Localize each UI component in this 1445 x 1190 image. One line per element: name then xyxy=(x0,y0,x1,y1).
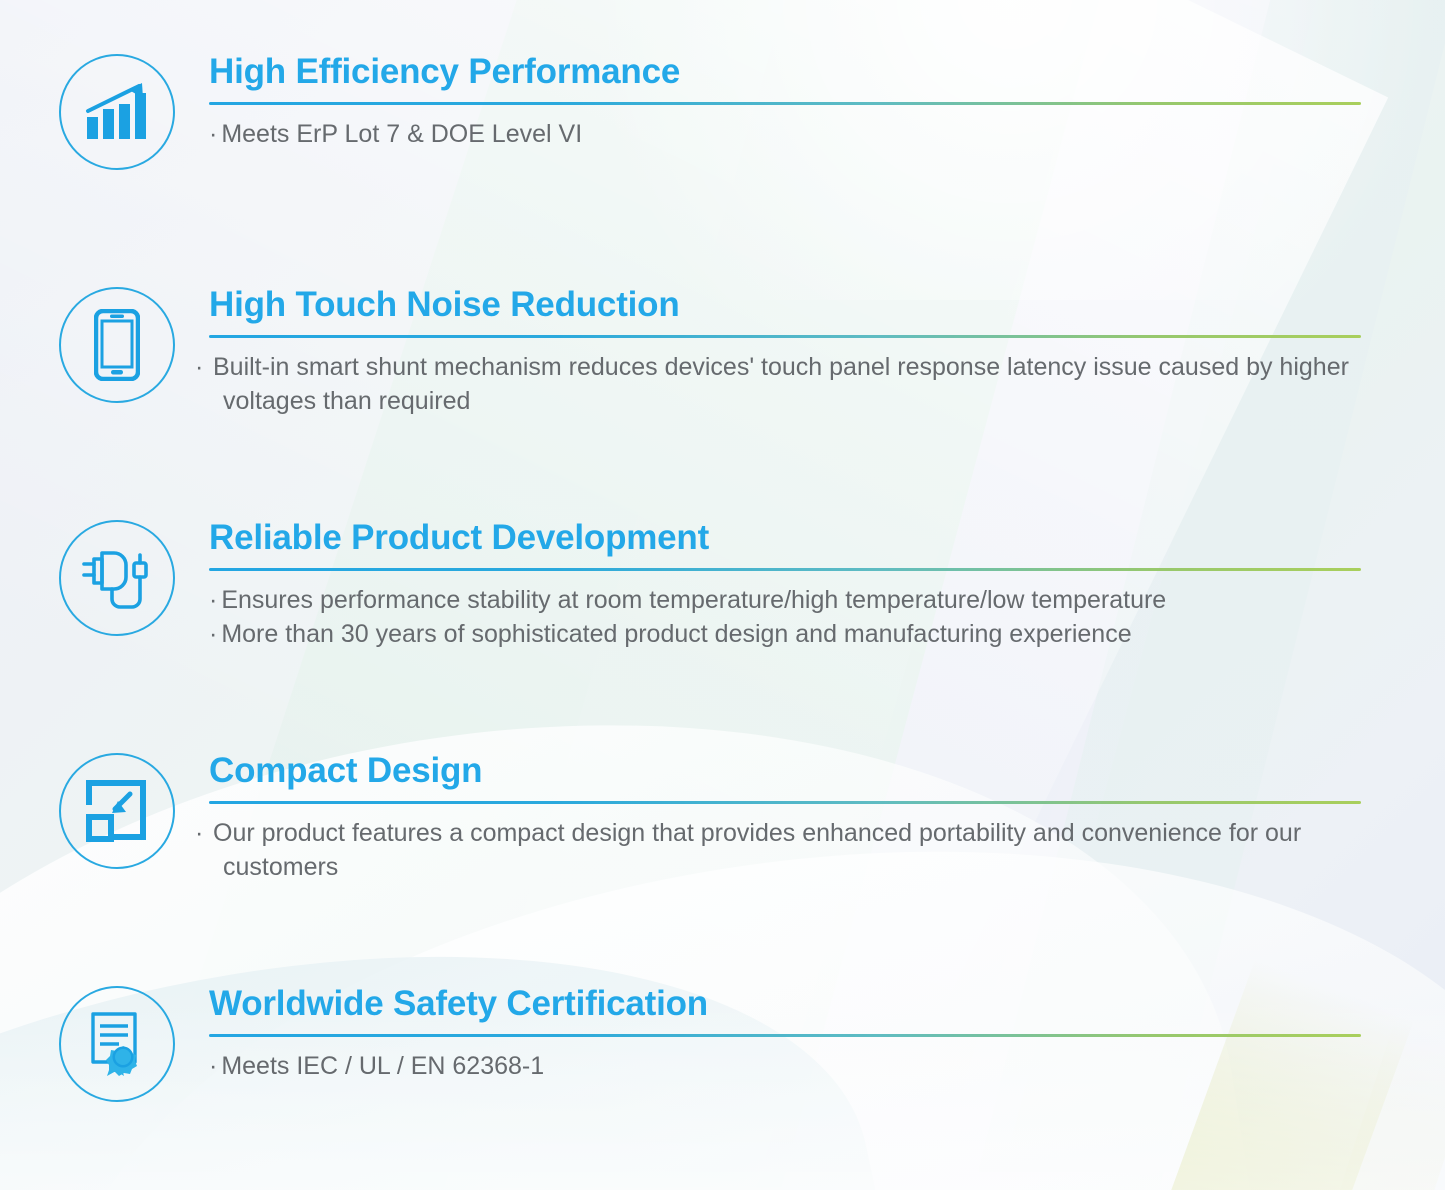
feature-bullet-line: ·Built-in smart shunt mechanism reduces … xyxy=(209,350,1373,419)
feature-icon-wrapper xyxy=(55,982,179,1106)
bullet-marker: · xyxy=(209,117,217,152)
feature-bullet-line: ·Meets ErP Lot 7 & DOE Level VI xyxy=(209,117,1361,152)
feature-body: Worldwide Safety Certification ·Meets IE… xyxy=(209,982,1361,1083)
feature-item-worldwide-safety-certification: Worldwide Safety Certification ·Meets IE… xyxy=(55,982,1361,1106)
feature-title: Reliable Product Development xyxy=(209,520,1361,557)
certificate-award-icon xyxy=(59,986,175,1102)
feature-lines: ·Built-in smart shunt mechanism reduces … xyxy=(209,350,1373,419)
feature-body: Reliable Product Development ·Ensures pe… xyxy=(209,516,1361,652)
feature-divider xyxy=(209,568,1361,571)
feature-line-text: Ensures performance stability at room te… xyxy=(221,586,1166,614)
feature-line-text: More than 30 years of sophisticated prod… xyxy=(221,620,1131,648)
feature-lines: ·Meets ErP Lot 7 & DOE Level VI xyxy=(209,117,1361,152)
feature-line-text: Our product features a compact design th… xyxy=(213,819,1301,882)
feature-divider xyxy=(209,102,1361,105)
feature-bullet-line: ·More than 30 years of sophisticated pro… xyxy=(209,617,1361,652)
bullet-marker: · xyxy=(209,1049,217,1084)
feature-lines: ·Ensures performance stability at room t… xyxy=(209,583,1361,652)
feature-body: Compact Design ·Our product features a c… xyxy=(209,749,1361,885)
feature-title: High Efficiency Performance xyxy=(209,54,1361,91)
feature-item-high-touch-noise-reduction: High Touch Noise Reduction ·Built-in sma… xyxy=(55,283,1373,419)
smartphone-icon xyxy=(59,287,175,403)
power-adapter-icon xyxy=(59,520,175,636)
feature-body: High Efficiency Performance ·Meets ErP L… xyxy=(209,50,1361,151)
feature-line-text: Meets IEC / UL / EN 62368-1 xyxy=(221,1052,544,1080)
feature-bullet-line: ·Ensures performance stability at room t… xyxy=(209,583,1361,618)
feature-title: High Touch Noise Reduction xyxy=(209,287,1373,324)
feature-item-reliable-product-development: Reliable Product Development ·Ensures pe… xyxy=(55,516,1361,652)
feature-bullet-line: ·Meets IEC / UL / EN 62368-1 xyxy=(209,1049,1361,1084)
compact-resize-icon xyxy=(59,753,175,869)
feature-bullet-line: ·Our product features a compact design t… xyxy=(209,816,1313,885)
feature-highlights-page: High Efficiency Performance ·Meets ErP L… xyxy=(0,0,1445,1190)
feature-line-text: Built-in smart shunt mechanism reduces d… xyxy=(213,353,1349,416)
bar-chart-growth-icon xyxy=(59,54,175,170)
feature-item-compact-design: Compact Design ·Our product features a c… xyxy=(55,749,1361,885)
feature-divider xyxy=(209,1034,1361,1037)
feature-icon-wrapper xyxy=(55,283,179,407)
feature-divider xyxy=(209,801,1361,804)
bullet-marker: · xyxy=(209,617,217,652)
feature-lines: ·Our product features a compact design t… xyxy=(209,816,1361,885)
feature-title: Compact Design xyxy=(209,753,1361,790)
feature-line-text: Meets ErP Lot 7 & DOE Level VI xyxy=(221,120,582,148)
feature-title: Worldwide Safety Certification xyxy=(209,986,1361,1023)
feature-lines: ·Meets IEC / UL / EN 62368-1 xyxy=(209,1049,1361,1084)
feature-icon-wrapper xyxy=(55,749,179,873)
bullet-marker: · xyxy=(209,583,217,618)
feature-divider xyxy=(209,335,1361,338)
feature-item-high-efficiency-performance: High Efficiency Performance ·Meets ErP L… xyxy=(55,50,1361,174)
feature-icon-wrapper xyxy=(55,50,179,174)
feature-icon-wrapper xyxy=(55,516,179,640)
feature-body: High Touch Noise Reduction ·Built-in sma… xyxy=(209,283,1373,419)
